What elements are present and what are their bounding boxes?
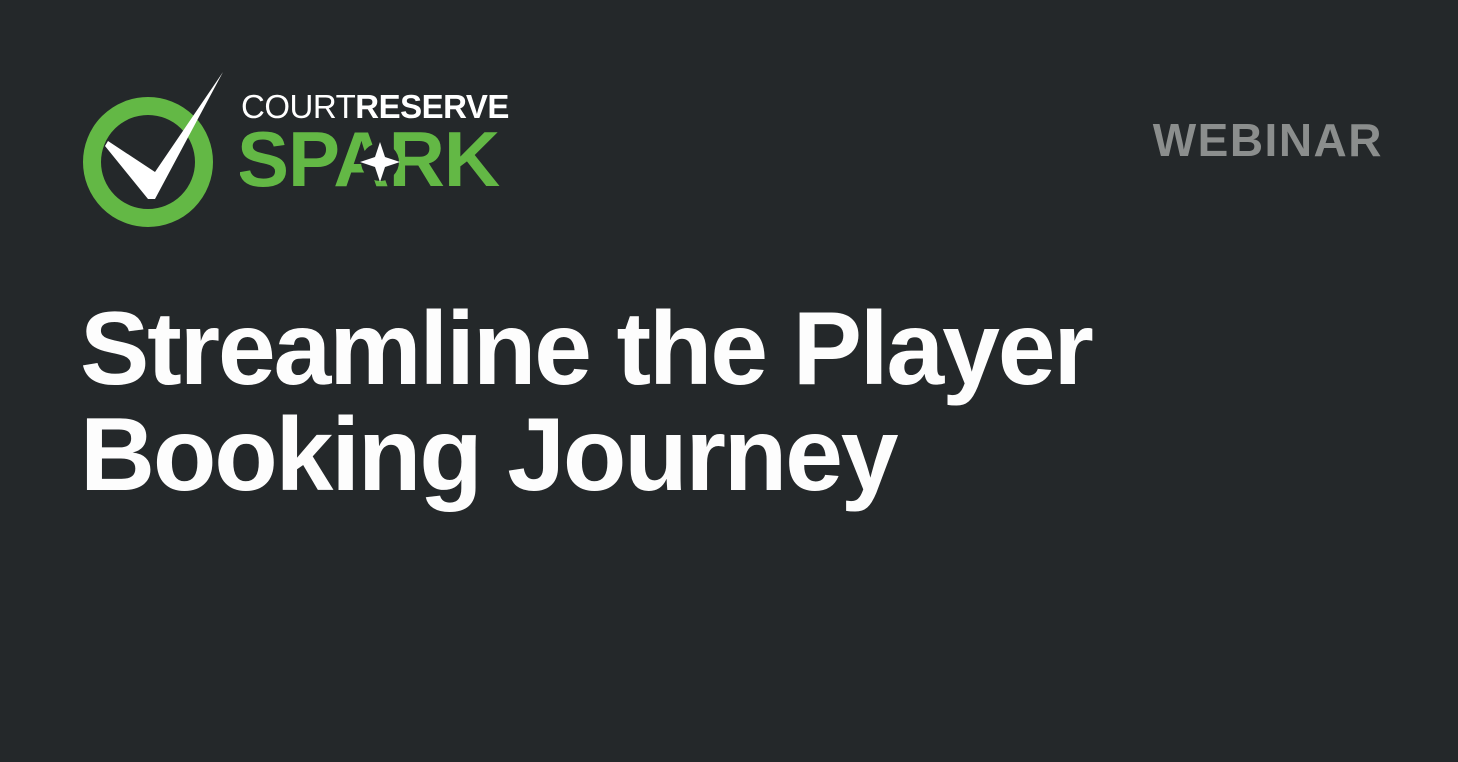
courtreserve-spark-logo[interactable]: COURTRESERVE SPARK: [82, 62, 622, 234]
wordmark-reserve: RESERVE: [355, 88, 509, 125]
wordmark-spark: SPARK: [240, 126, 620, 198]
webinar-title-slide: COURTRESERVE SPARK WEBINAR Streamline th…: [0, 0, 1458, 762]
wordmark-courtreserve: COURTRESERVE: [241, 90, 509, 123]
page-title: Streamline the Player Booking Journey: [80, 296, 1360, 508]
courtreserve-checkmark-circle-logo: [82, 62, 232, 234]
slide-header: COURTRESERVE SPARK WEBINAR: [0, 0, 1458, 260]
wordmark-court: COURT: [241, 88, 355, 125]
logo-wordmark: COURTRESERVE SPARK: [240, 90, 620, 208]
headline-line-2: Booking Journey: [80, 402, 1360, 508]
webinar-tag: WEBINAR: [1153, 114, 1383, 166]
headline-line-1: Streamline the Player: [80, 296, 1360, 402]
